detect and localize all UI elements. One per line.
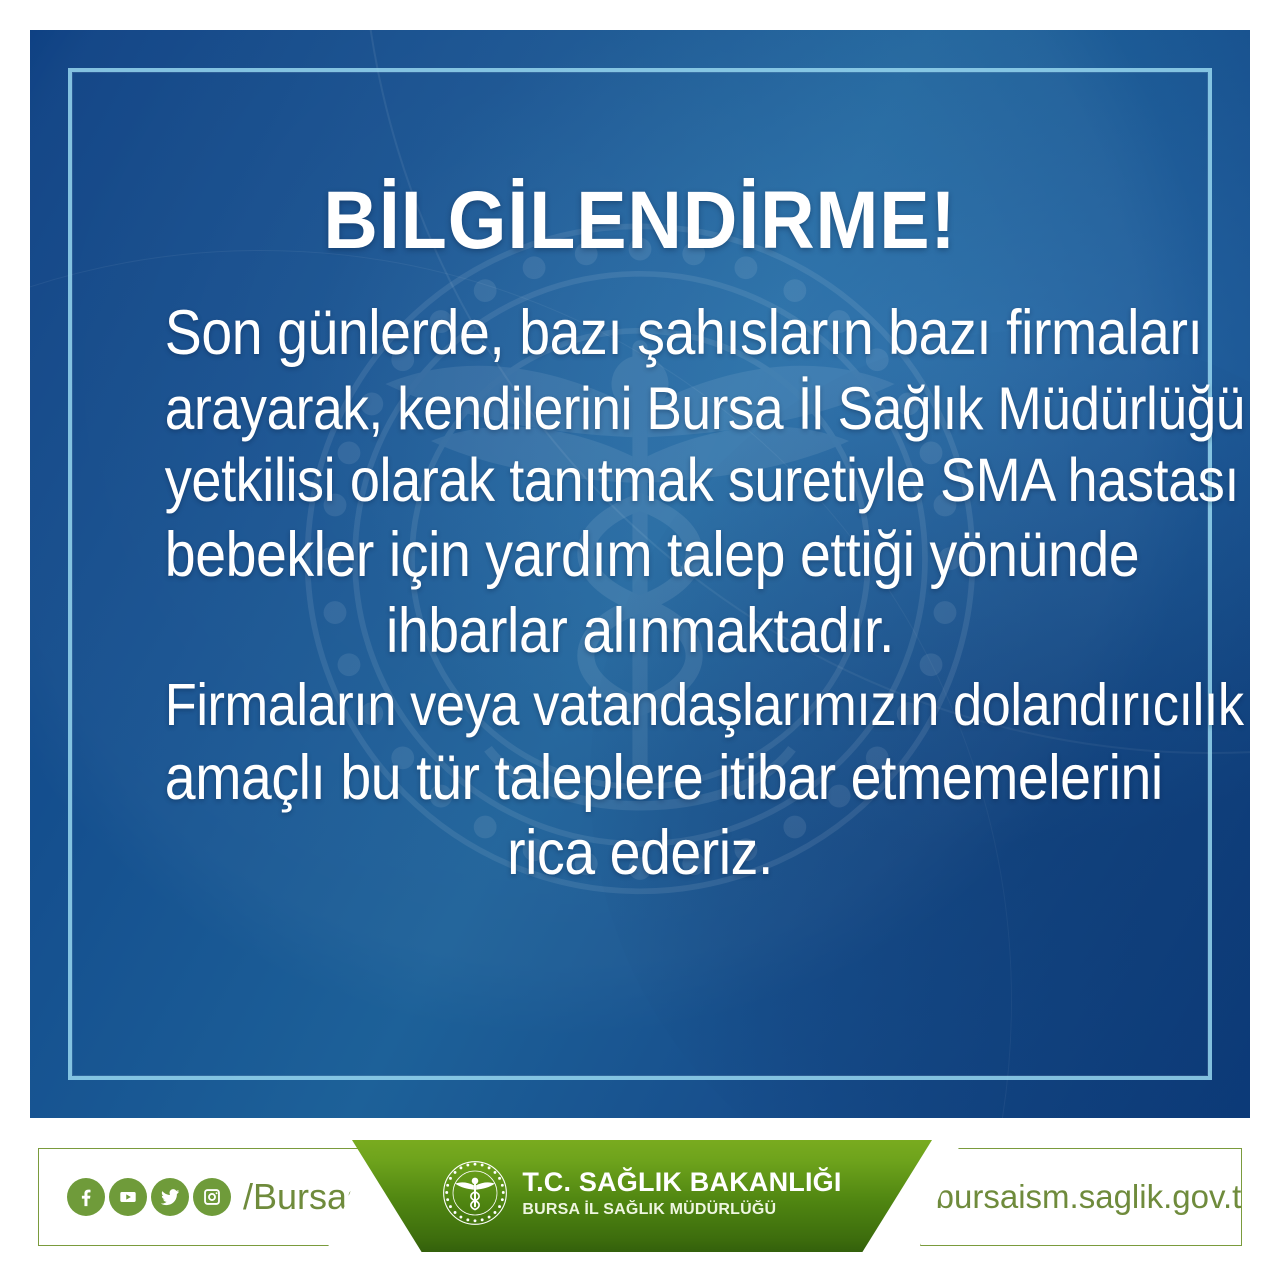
poster-card: BİLGİLENDİRME! Son günlerde, bazı şahısl… — [30, 30, 1250, 1118]
social-media-panel: /Bursasm — [38, 1148, 368, 1246]
page-title: BİLGİLENDİRME! — [143, 180, 1137, 262]
footer-bar: /Bursasm — [0, 1140, 1280, 1258]
body-line: ihbarlar alınmaktadır. — [165, 594, 1115, 670]
body-line: arayarak, kendilerini Bursa İl Sağlık Mü… — [165, 372, 1115, 445]
ministry-subtitle: BURSA İL SAĞLIK MÜDÜRLÜĞÜ — [522, 1202, 841, 1218]
instagram-icon[interactable] — [193, 1178, 231, 1216]
body-line: rica ederiz. — [165, 816, 1115, 892]
body-line: amaçlı bu tür taleplere itibar etmemeler… — [165, 741, 1115, 817]
body-line: bebekler için yardım talep ettiği yönünd… — [165, 518, 1115, 594]
poster-content: BİLGİLENDİRME! Son günlerde, bazı şahısl… — [100, 180, 1180, 892]
ministry-title: T.C. SAĞLIK BAKANLIĞI — [522, 1169, 841, 1196]
ministry-seal-icon — [442, 1160, 508, 1226]
youtube-icon[interactable] — [109, 1178, 147, 1216]
website-panel[interactable]: bursaism.saglik.gov.tr — [920, 1148, 1242, 1246]
social-handle-label: /Bursasm — [243, 1176, 395, 1218]
website-url-label: bursaism.saglik.gov.tr — [936, 1178, 1253, 1216]
ministry-banner: T.C. SAĞLIK BAKANLIĞI BURSA İL SAĞLIK MÜ… — [352, 1140, 932, 1252]
body-line: yetkilisi olarak tanıtmak suretiyle SMA … — [165, 444, 1115, 518]
facebook-icon[interactable] — [67, 1178, 105, 1216]
twitter-icon[interactable] — [151, 1178, 189, 1216]
poster-body-text: Son günlerde, bazı şahısların bazı firma… — [165, 296, 1115, 892]
social-icon-row: /Bursasm — [67, 1176, 395, 1218]
body-line: Son günlerde, bazı şahısların bazı firma… — [165, 296, 1115, 372]
body-line: Firmaların veya vatandaşlarımızın doland… — [165, 669, 1115, 740]
